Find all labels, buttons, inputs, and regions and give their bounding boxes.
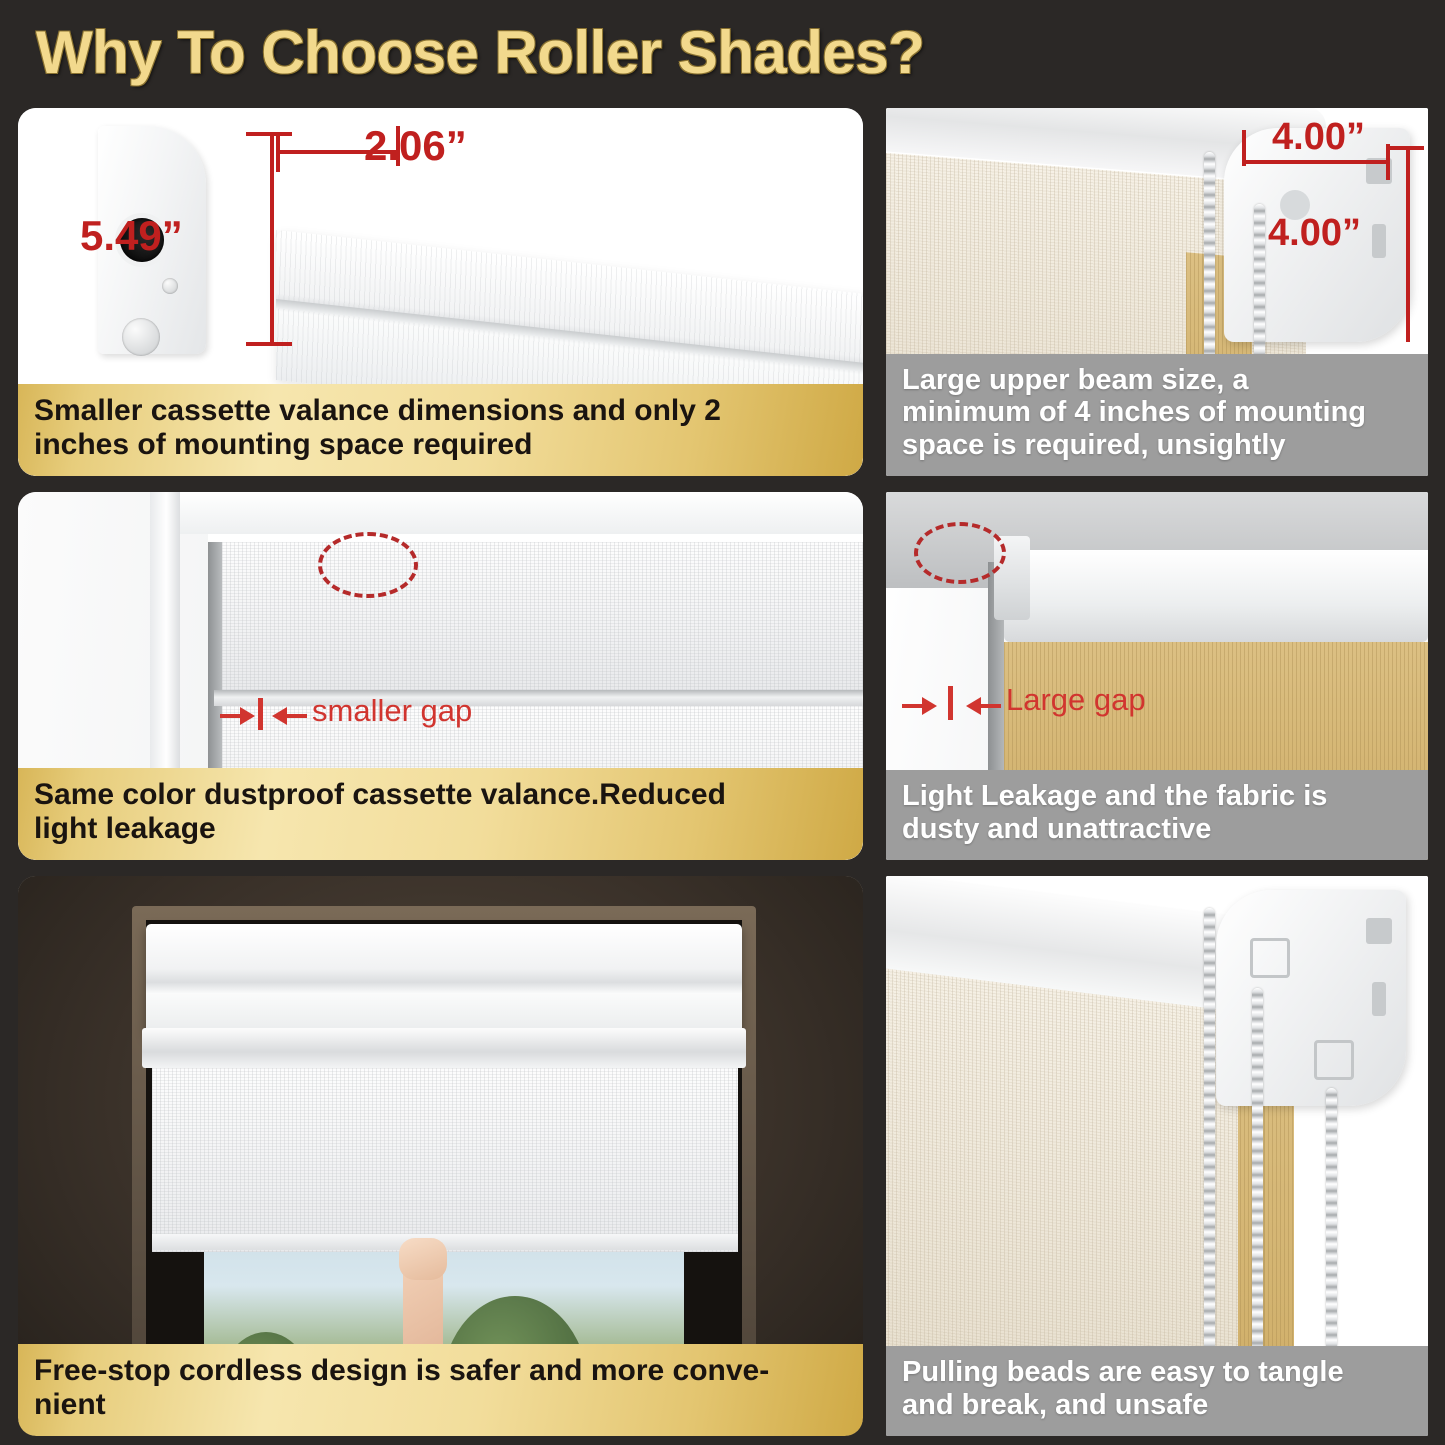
caption-line: minimum of 4 inches of mounting [902,396,1412,429]
caption-line: Smaller cassette valance dimensions and … [34,394,847,428]
caption-line: inches of mounting space required [34,428,847,462]
caption-line: light leakage [34,812,847,846]
panel-pulling-beads: Pulling beads are easy to tangle and bre… [886,876,1428,1436]
gap-label: smaller gap [312,693,472,729]
header: Why To Choose Roller Shades? [0,0,1445,104]
gap-highlight-ellipse [318,532,418,598]
bead-chain [1326,1088,1337,1354]
bead-chain [1204,908,1215,1354]
caption-line: dusty and unattractive [902,813,1412,846]
panel-caption: Light Leakage and the fabric is dusty an… [886,770,1428,860]
comparison-grid: 2.06” 5.49” Smaller cassette valance dim… [18,108,1428,1428]
caption-line: Same color dustproof cassette valance.Re… [34,778,847,812]
panel-caption: Large upper beam size, a minimum of 4 in… [886,354,1428,476]
panel-caption: Smaller cassette valance dimensions and … [18,384,863,476]
gap-arrow-right-icon [240,707,255,725]
caption-line: Free-stop cordless design is safer and m… [34,1354,847,1388]
cassette-valance [146,924,742,1036]
panel-smaller-gap: smaller gap Same color dustproof cassett… [18,492,863,860]
caption-line: Large upper beam size, a [902,364,1412,397]
bead-chain [1252,988,1263,1354]
panel-caption: Pulling beads are easy to tangle and bre… [886,1346,1428,1436]
panel-cordless: Free-stop cordless design is safer and m… [18,876,863,1436]
panel-large-gap: Large gap Light Leakage and the fabric i… [886,492,1428,860]
gap-arrow-right-icon [922,697,937,715]
caption-line: Light Leakage and the fabric is [902,780,1412,813]
page-title: Why To Choose Roller Shades? [36,18,924,87]
width-dimension-label: 4.00” [1272,116,1365,159]
gap-label: Large gap [1006,682,1146,718]
caption-line: and break, and unsafe [902,1389,1412,1422]
height-dimension-label: 4.00” [1268,212,1361,255]
roller-bracket [1216,890,1406,1106]
caption-line: space is required, unsightly [902,429,1412,462]
panel-large-beam: 4.00” 4.00” Large upper beam size, a min… [886,108,1428,476]
caption-line: nient [34,1388,847,1422]
panel-caption: Same color dustproof cassette valance.Re… [18,768,863,860]
height-dimension-label: 5.49” [80,212,183,260]
hand-fingers [399,1238,447,1280]
caption-line: Pulling beads are easy to tangle [902,1356,1412,1389]
panel-cassette-dimensions: 2.06” 5.49” Smaller cassette valance dim… [18,108,863,476]
width-dimension-label: 2.06” [364,122,467,170]
gap-highlight-ellipse [914,522,1006,584]
panel-caption: Free-stop cordless design is safer and m… [18,1344,863,1436]
